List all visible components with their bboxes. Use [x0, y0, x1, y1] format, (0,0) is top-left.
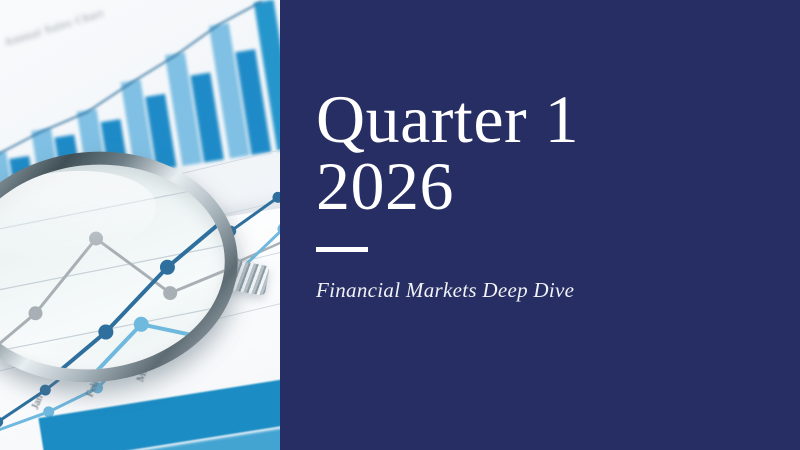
page-title: Quarter 1 2026 [316, 86, 766, 221]
lens-glass [0, 152, 235, 382]
slide-subtitle: Financial Markets Deep Dive [316, 278, 766, 303]
magnified-line-chart [0, 152, 235, 382]
title-panel: Quarter 1 2026 Financial Markets Deep Di… [280, 0, 800, 450]
lens-rim [0, 137, 249, 396]
title-block: Quarter 1 2026 Financial Markets Deep Di… [316, 86, 766, 303]
cover-photo: Annual Sales Chart [0, 0, 280, 450]
presentation-slide: Annual Sales Chart [0, 0, 800, 450]
magnifying-glass [0, 137, 249, 396]
title-divider [316, 247, 368, 252]
